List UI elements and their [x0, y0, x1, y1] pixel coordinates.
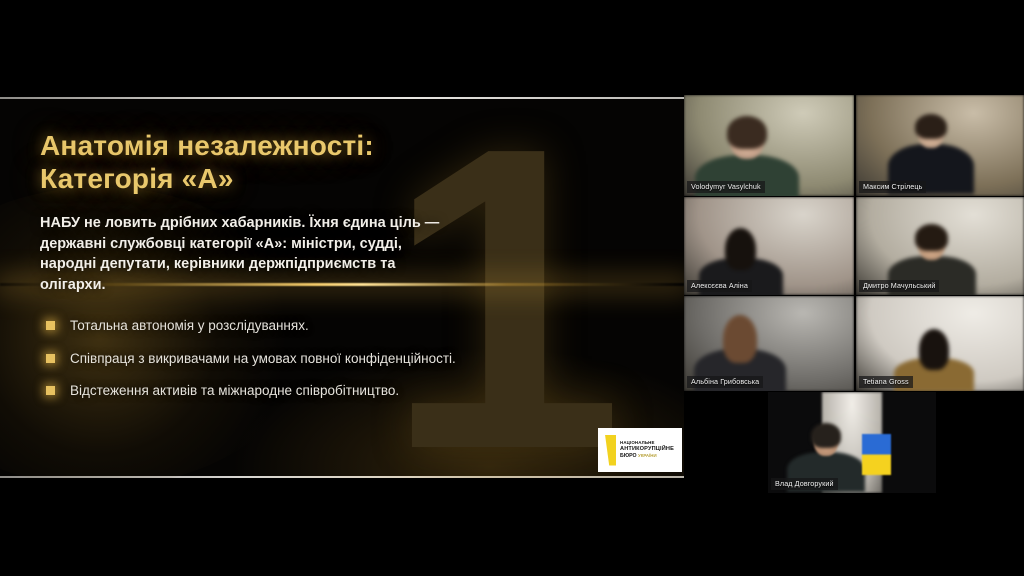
participant-tile[interactable]: Альбіна Грибовська	[684, 296, 854, 391]
nabu-logo-mark-icon	[605, 435, 616, 466]
participant-tile[interactable]: Volodymyr Vasylchuk	[684, 95, 854, 196]
participant-hair	[727, 116, 767, 149]
slide-bullet-list: Тотальна автономія у розслідуваннях. Спі…	[40, 317, 460, 400]
participant-name-label: Volodymyr Vasylchuk	[687, 181, 765, 194]
participant-tile[interactable]: Максим Стрілець	[856, 95, 1024, 196]
participant-hair	[811, 423, 841, 448]
slide-content: Анатомія незалежності: Категорія «А» НАБ…	[0, 97, 684, 400]
list-item: Співпраця з викривачами на умовах повної…	[40, 350, 460, 368]
bullet-square-icon	[46, 354, 55, 363]
participant-name-label: Tetiana Gross	[859, 376, 913, 389]
participant-hair	[915, 224, 948, 251]
logo-line-3: БЮРО УКРАЇНИ	[620, 454, 674, 460]
participant-grid: Volodymyr Vasylchuk Максим Стрілець Алек…	[684, 95, 1024, 493]
list-item: Відстеження активів та міжнародне співро…	[40, 382, 460, 400]
participant-name-label: Максим Стрілець	[859, 181, 926, 194]
participant-tile[interactable]: Tetiana Gross	[856, 296, 1024, 391]
nabu-logo-text: НАЦІОНАЛЬНЕ АНТИКОРУПЦІЙНЕ БЮРО УКРАЇНИ	[620, 441, 674, 460]
participant-name-label: Алексєєва Аліна	[687, 280, 752, 293]
nabu-logo: НАЦІОНАЛЬНЕ АНТИКОРУПЦІЙНЕ БЮРО УКРАЇНИ	[598, 428, 682, 472]
slide-title: Анатомія незалежності: Категорія «А»	[40, 129, 500, 195]
participant-tile[interactable]: Алексєєва Аліна	[684, 197, 854, 295]
participant-hair	[723, 315, 757, 363]
participant-name-label: Альбіна Грибовська	[687, 376, 763, 389]
slide-subtitle: НАБУ не ловить дрібних хабарників. Їхня …	[40, 213, 458, 295]
shared-slide: 1 Анатомія незалежності: Категорія «А» Н…	[0, 97, 684, 478]
screen-share-view: 1 Анатомія незалежності: Категорія «А» Н…	[0, 0, 1024, 576]
logo-line-3-main: БЮРО	[620, 453, 637, 459]
bullet-text: Тотальна автономія у розслідуваннях.	[70, 318, 309, 333]
bullet-text: Співпраця з викривачами на умовах повної…	[70, 351, 456, 366]
bullet-square-icon	[46, 321, 55, 330]
participant-tile[interactable]: Влад Довгорукий	[768, 392, 936, 493]
list-item: Тотальна автономія у розслідуваннях.	[40, 317, 460, 335]
participant-tile[interactable]: Дмитро Мачульський	[856, 197, 1024, 295]
ukraine-flag-icon	[862, 434, 891, 474]
bullet-text: Відстеження активів та міжнародне співро…	[70, 383, 399, 398]
logo-line-1: НАЦІОНАЛЬНЕ	[620, 441, 674, 446]
participant-name-label: Дмитро Мачульський	[859, 280, 939, 293]
participant-name-label: Влад Довгорукий	[771, 478, 838, 491]
logo-line-3-accent: УКРАЇНИ	[638, 453, 657, 458]
participant-hair	[915, 114, 947, 139]
slide-bottom-edge	[0, 476, 684, 478]
participant-hair	[725, 228, 756, 270]
bullet-square-icon	[46, 386, 55, 395]
participant-hair	[919, 329, 949, 370]
